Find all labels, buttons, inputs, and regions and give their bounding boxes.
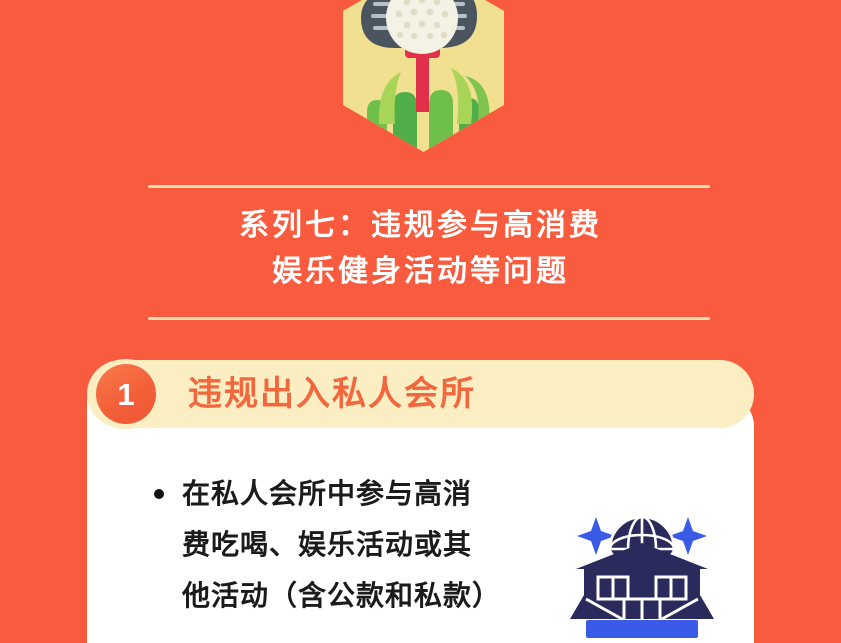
title-divider-top [148,185,710,188]
section-number-badge: 1 [96,364,156,424]
hero-badge [343,0,504,152]
list-item-line-3: 他活动（含公款和私款） [182,580,501,611]
title-divider-bottom [148,317,710,320]
list-item-line-2: 费吃喝、娱乐活动或其 [182,529,472,560]
list-item-line-1: 在私人会所中参与高消 [182,478,472,509]
golf-hexagon-icon [343,0,504,152]
page-title-line-2: 娱乐健身活动等问题 [0,249,841,295]
page-title-line-1: 系列七：违规参与高消费 [0,203,841,249]
list-item: 在私人会所中参与高消 费吃喝、娱乐活动或其 他活动（含公款和私款） [148,468,548,621]
page-title: 系列七：违规参与高消费 娱乐健身活动等问题 [0,203,841,295]
private-clubhouse-icon [566,503,716,643]
card-bullet-list: 在私人会所中参与高消 费吃喝、娱乐活动或其 他活动（含公款和私款） [148,468,548,621]
card-header-title: 违规出入私人会所 [188,372,476,416]
bullet-dot-icon [154,489,164,499]
infographic-page: 系列七：违规参与高消费 娱乐健身活动等问题 1 违规出入私人会所 在私人会所中参… [0,0,841,643]
